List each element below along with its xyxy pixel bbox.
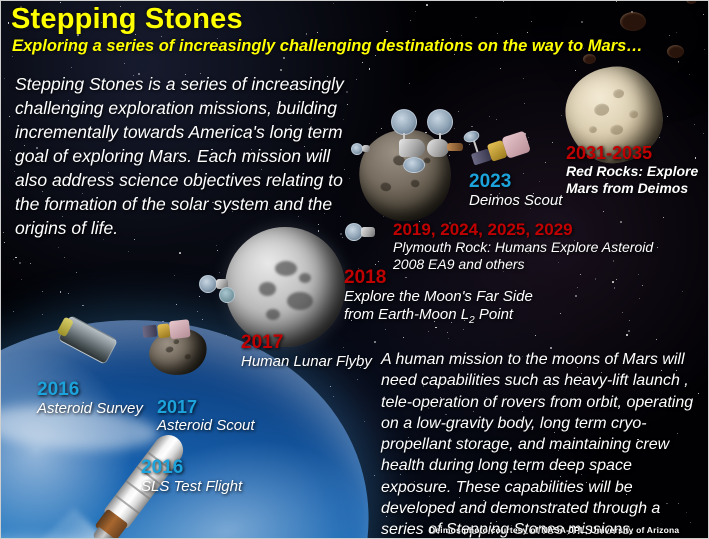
mission-year: 2019, 2024, 2025, 2029 — [393, 220, 653, 239]
mission-year: 2017 — [241, 332, 372, 353]
mission-name: Deimos Scout — [469, 192, 562, 210]
mission-label-deimos-scout: 2023 Deimos Scout — [469, 171, 562, 210]
mission-label-human-lunar-flyby: 2017 Human Lunar Flyby — [241, 332, 372, 371]
mission-year: 2031-2035 — [566, 143, 698, 163]
mission-year: 2016 — [141, 457, 242, 478]
mission-label-sls-test-flight: 2016 SLS Test Flight — [141, 457, 242, 496]
mission-name-line1: Explore the Moon's Far Side — [344, 288, 533, 306]
mission-year: 2023 — [469, 171, 562, 192]
mission-year: 2016 — [37, 379, 143, 400]
mission-name: Asteroid Scout — [157, 417, 255, 435]
mission-year: 2017 — [157, 397, 255, 417]
lunar-far-side-probe-image — [219, 285, 245, 305]
mission-name: Asteroid Survey — [37, 400, 143, 418]
intro-paragraph: Stepping Stones is a series of increasin… — [15, 73, 345, 241]
page-title: Stepping Stones — [11, 3, 243, 36]
capability-paragraph: A human mission to the moons of Mars wil… — [381, 349, 703, 539]
mission-name: Human Lunar Flyby — [241, 353, 372, 371]
photo-credit: Deimos photo courtesy of NASA-JPL, Unive… — [429, 525, 679, 535]
page-subtitle: Exploring a series of increasingly chall… — [12, 37, 643, 56]
mission-name-line2: Mars from Deimos — [566, 180, 698, 197]
mission-name-line1: Plymouth Rock: Humans Explore Asteroid — [393, 239, 653, 256]
asteroid-scout-probe-image — [351, 141, 373, 159]
mission-label-lunar-far-side: 2018 Explore the Moon's Far Side from Ea… — [344, 267, 533, 327]
mission-name-line1: Red Rocks: Explore — [566, 163, 698, 180]
mission-name: SLS Test Flight — [141, 478, 242, 496]
mission-name-line2: from Earth-Moon L2 Point — [344, 306, 533, 327]
lunar-gateway-spacecraft-image — [341, 223, 377, 247]
mission-label-plymouth-rock: 2019, 2024, 2025, 2029 Plymouth Rock: Hu… — [393, 220, 653, 272]
mission-name-line2: 2008 EA9 and others — [393, 256, 653, 273]
mission-label-red-rocks: 2031-2035 Red Rocks: Explore Mars from D… — [566, 143, 698, 196]
mission-label-asteroid-survey: 2016 Asteroid Survey — [37, 379, 143, 418]
mission-label-asteroid-scout: 2017 Asteroid Scout — [157, 397, 255, 435]
stepping-stones-slide: Stepping Stones Exploring a series of in… — [0, 0, 709, 539]
